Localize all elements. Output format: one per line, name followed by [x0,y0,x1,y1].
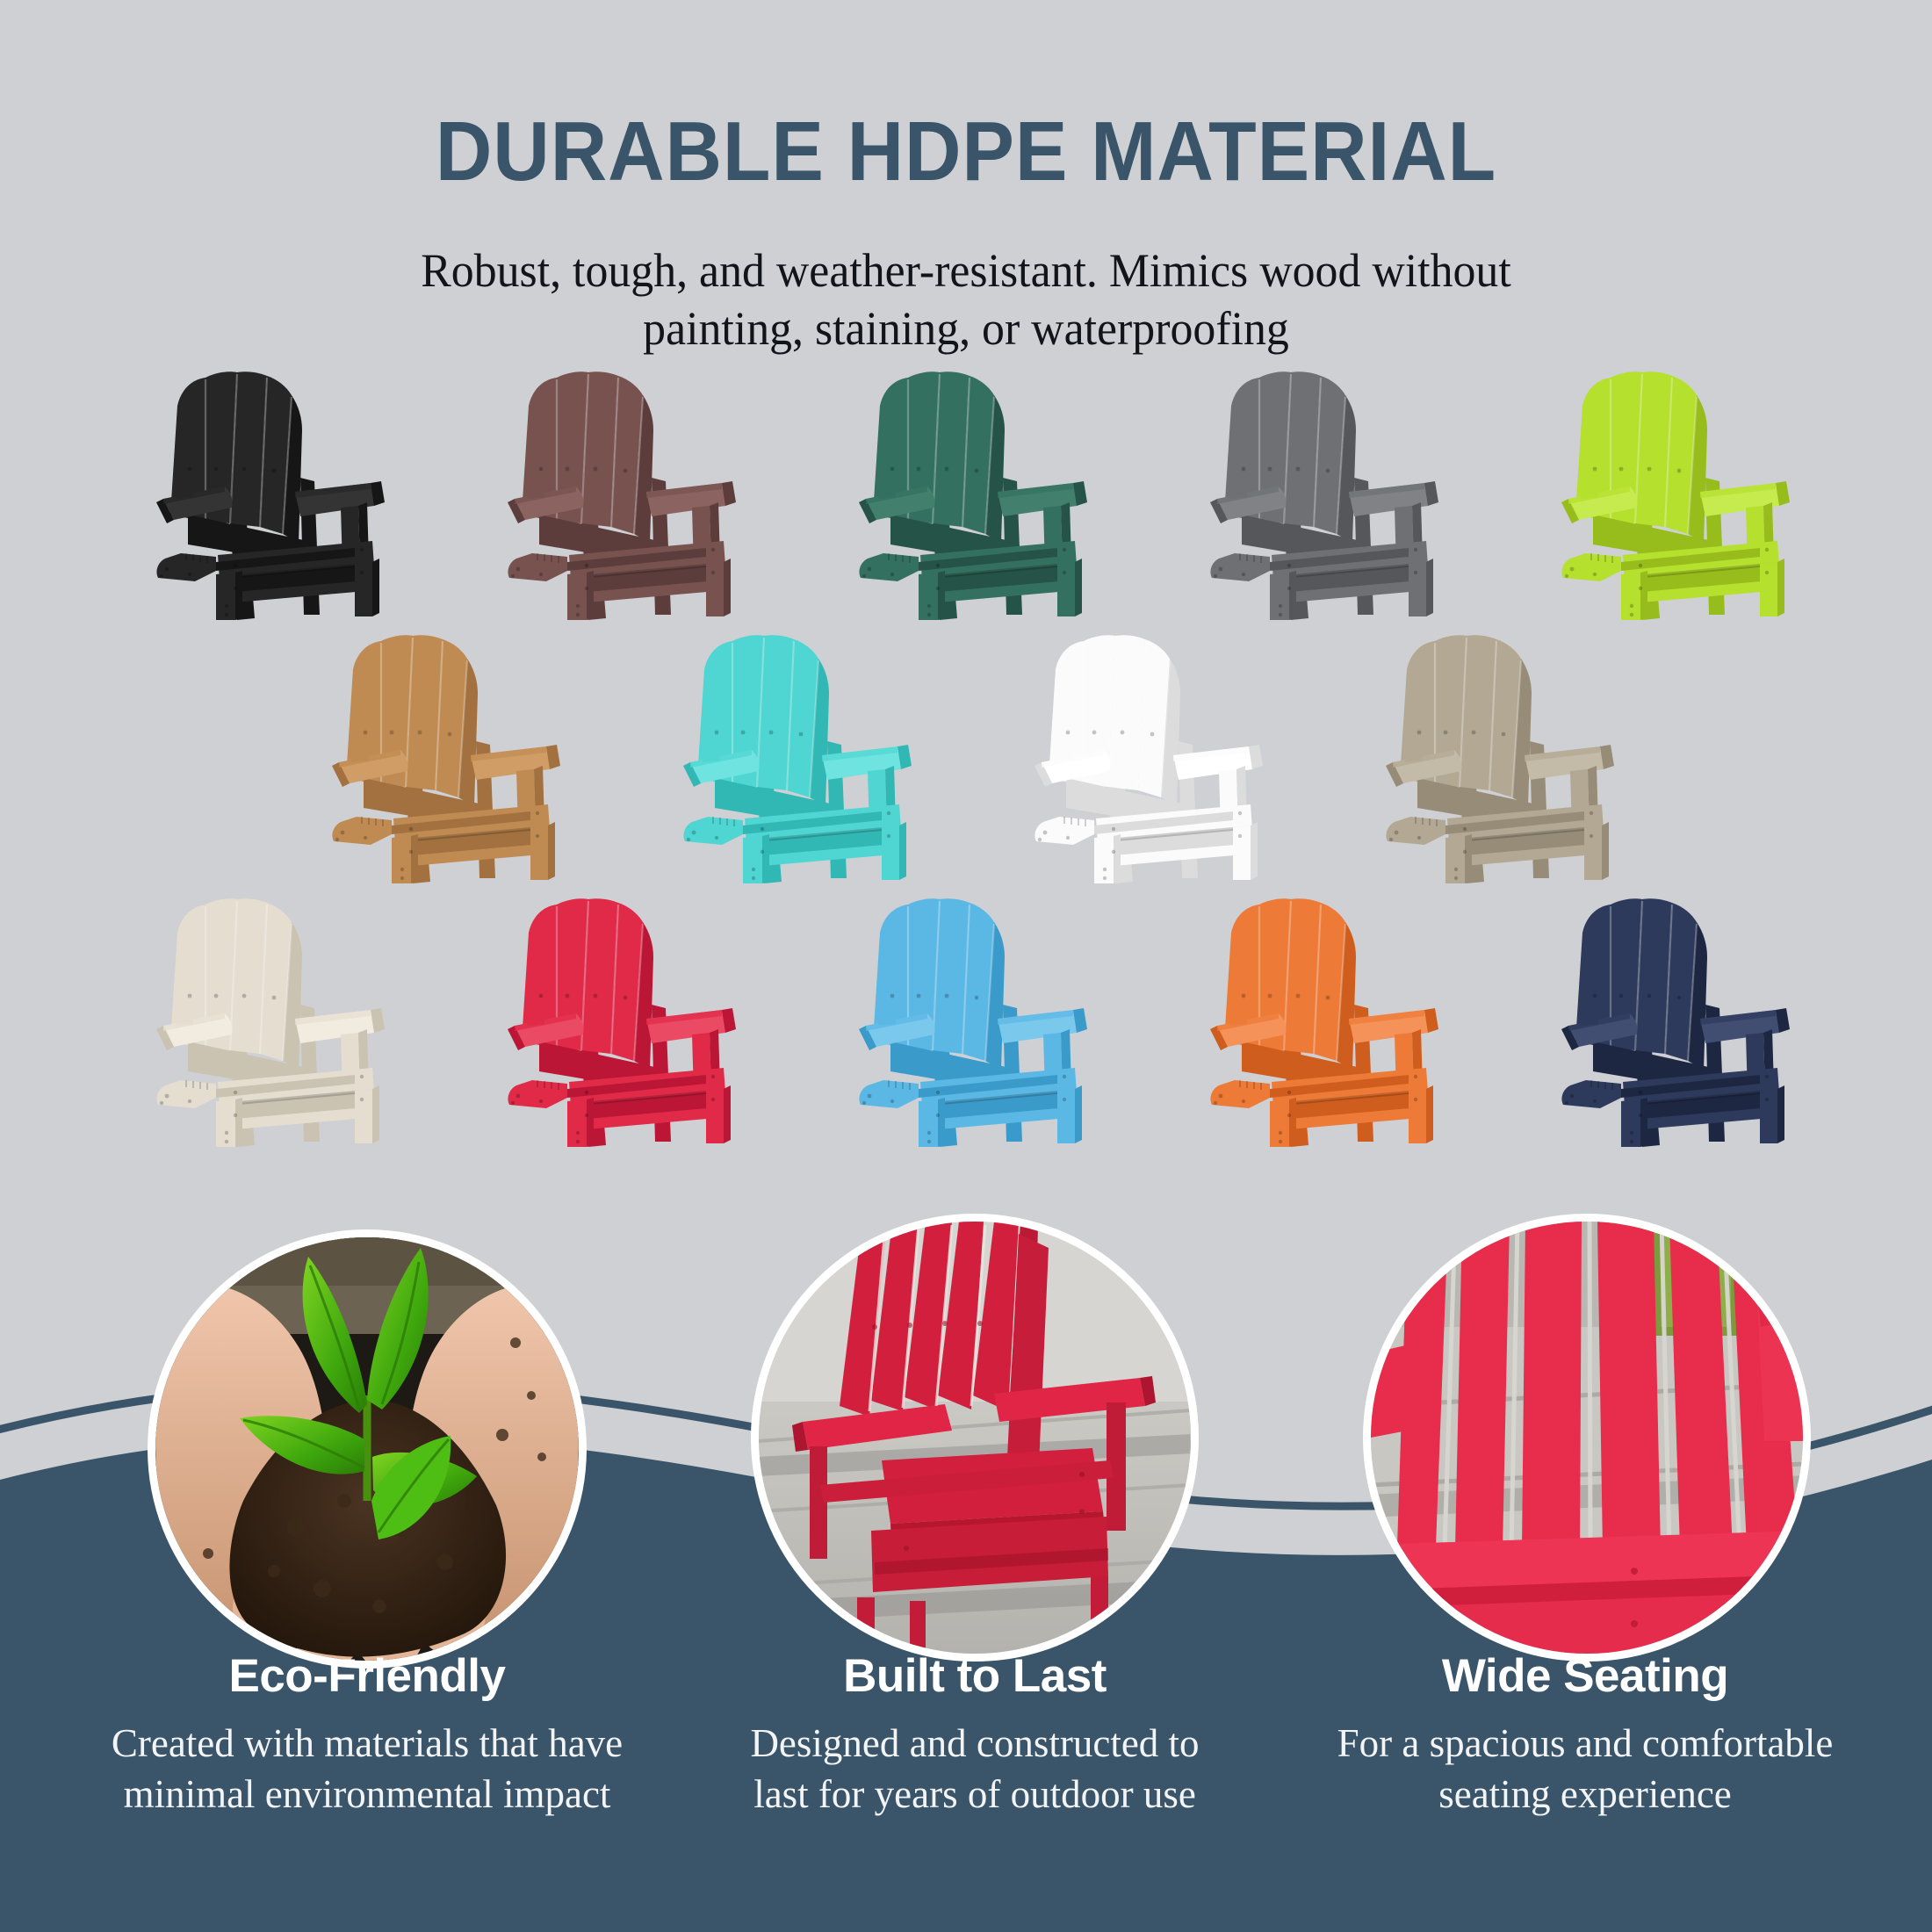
feature-description: For a spacious and comfortable seating e… [1278,1719,1892,1820]
chair-swatch-brown[interactable] [439,367,790,631]
chair-body-weathered-wood [1386,635,1614,883]
feature-description: Designed and constructed to last for yea… [667,1719,1282,1820]
chair-swatch-lime-green[interactable] [1493,367,1844,631]
chair-swatch-teak[interactable] [263,631,615,894]
chair-row-3 [0,894,1932,1157]
chair-swatch-ivory[interactable] [88,894,439,1157]
feature-desc-line-1: For a spacious and comfortable [1278,1719,1892,1770]
chair-swatch-orange[interactable] [1142,894,1493,1157]
chair-swatch-dark-green[interactable] [790,367,1142,631]
red-chair-patio-image [759,1222,1191,1654]
feature-caption-wide-seating: Wide Seating For a spacious and comforta… [1278,1649,1892,1820]
chair-swatch-red[interactable] [439,894,790,1157]
chair-body-brown [508,371,736,620]
feature-photo-built-to-last [751,1214,1199,1662]
adirondack-chair-white [1010,631,1273,885]
adirondack-chair-light-blue [834,894,1098,1149]
chair-body-white [1034,635,1263,883]
adirondack-chair-teak [307,631,571,885]
page-subtitle: Robust, tough, and weather-resistant. Mi… [308,242,1624,358]
chair-body-black [156,371,385,620]
chair-body-lime-green [1561,371,1790,620]
feature-caption-eco-friendly: Eco-Friendly Created with materials that… [60,1649,674,1820]
chair-swatch-turquoise[interactable] [615,631,966,894]
feature-desc-line-1: Designed and constructed to [667,1719,1282,1770]
chair-body-gray [1210,371,1438,620]
adirondack-chair-lime-green [1537,367,1800,622]
red-chair-seat-closeup-image [1371,1222,1803,1654]
chair-body-orange [1210,898,1438,1147]
adirondack-chair-dark-green [834,367,1098,622]
feature-desc-line-2: minimal environmental impact [60,1770,674,1820]
chair-swatch-white[interactable] [966,631,1317,894]
chair-swatch-light-blue[interactable] [790,894,1142,1157]
subtitle-line-2: painting, staining, or waterproofing [308,300,1624,358]
chair-row-1 [0,367,1932,631]
adirondack-chair-black [132,367,395,622]
feature-desc-line-2: seating experience [1278,1770,1892,1820]
adirondack-chair-orange [1186,894,1449,1149]
feature-title: Eco-Friendly [60,1649,674,1703]
adirondack-chair-red [483,894,746,1149]
adirondack-chair-navy-blue [1537,894,1800,1149]
adirondack-chair-gray [1186,367,1449,622]
chair-row-2 [0,631,1932,894]
chair-body-ivory [156,898,385,1147]
adirondack-chair-weathered-wood [1361,631,1625,885]
feature-photo-wide-seating [1363,1214,1811,1662]
chair-body-turquoise [683,635,912,883]
chair-swatch-gray[interactable] [1142,367,1493,631]
chair-body-teak [332,635,560,883]
chair-color-grid [0,367,1932,1157]
adirondack-chair-turquoise [659,631,922,885]
chair-body-red [508,898,736,1147]
hands-soil-seedling-image [155,1237,579,1661]
chair-swatch-black[interactable] [88,367,439,631]
chair-body-light-blue [859,898,1087,1147]
feature-desc-line-1: Created with materials that have [60,1719,674,1770]
subtitle-line-1: Robust, tough, and weather-resistant. Mi… [308,242,1624,300]
feature-title: Built to Last [667,1649,1282,1703]
feature-description: Created with materials that have minimal… [60,1719,674,1820]
chair-swatch-navy-blue[interactable] [1493,894,1844,1157]
chair-body-dark-green [859,371,1087,620]
adirondack-chair-ivory [132,894,395,1149]
adirondack-chair-brown [483,367,746,622]
feature-title: Wide Seating [1278,1649,1892,1703]
chair-swatch-weathered-wood[interactable] [1317,631,1669,894]
chair-body-navy-blue [1561,898,1790,1147]
feature-caption-built-to-last: Built to Last Designed and constructed t… [667,1649,1282,1820]
feature-desc-line-2: last for years of outdoor use [667,1770,1282,1820]
page-title: DURABLE HDPE MATERIAL [68,104,1864,200]
feature-photo-eco-friendly [148,1229,587,1669]
header: DURABLE HDPE MATERIAL Robust, tough, and… [0,0,1932,358]
